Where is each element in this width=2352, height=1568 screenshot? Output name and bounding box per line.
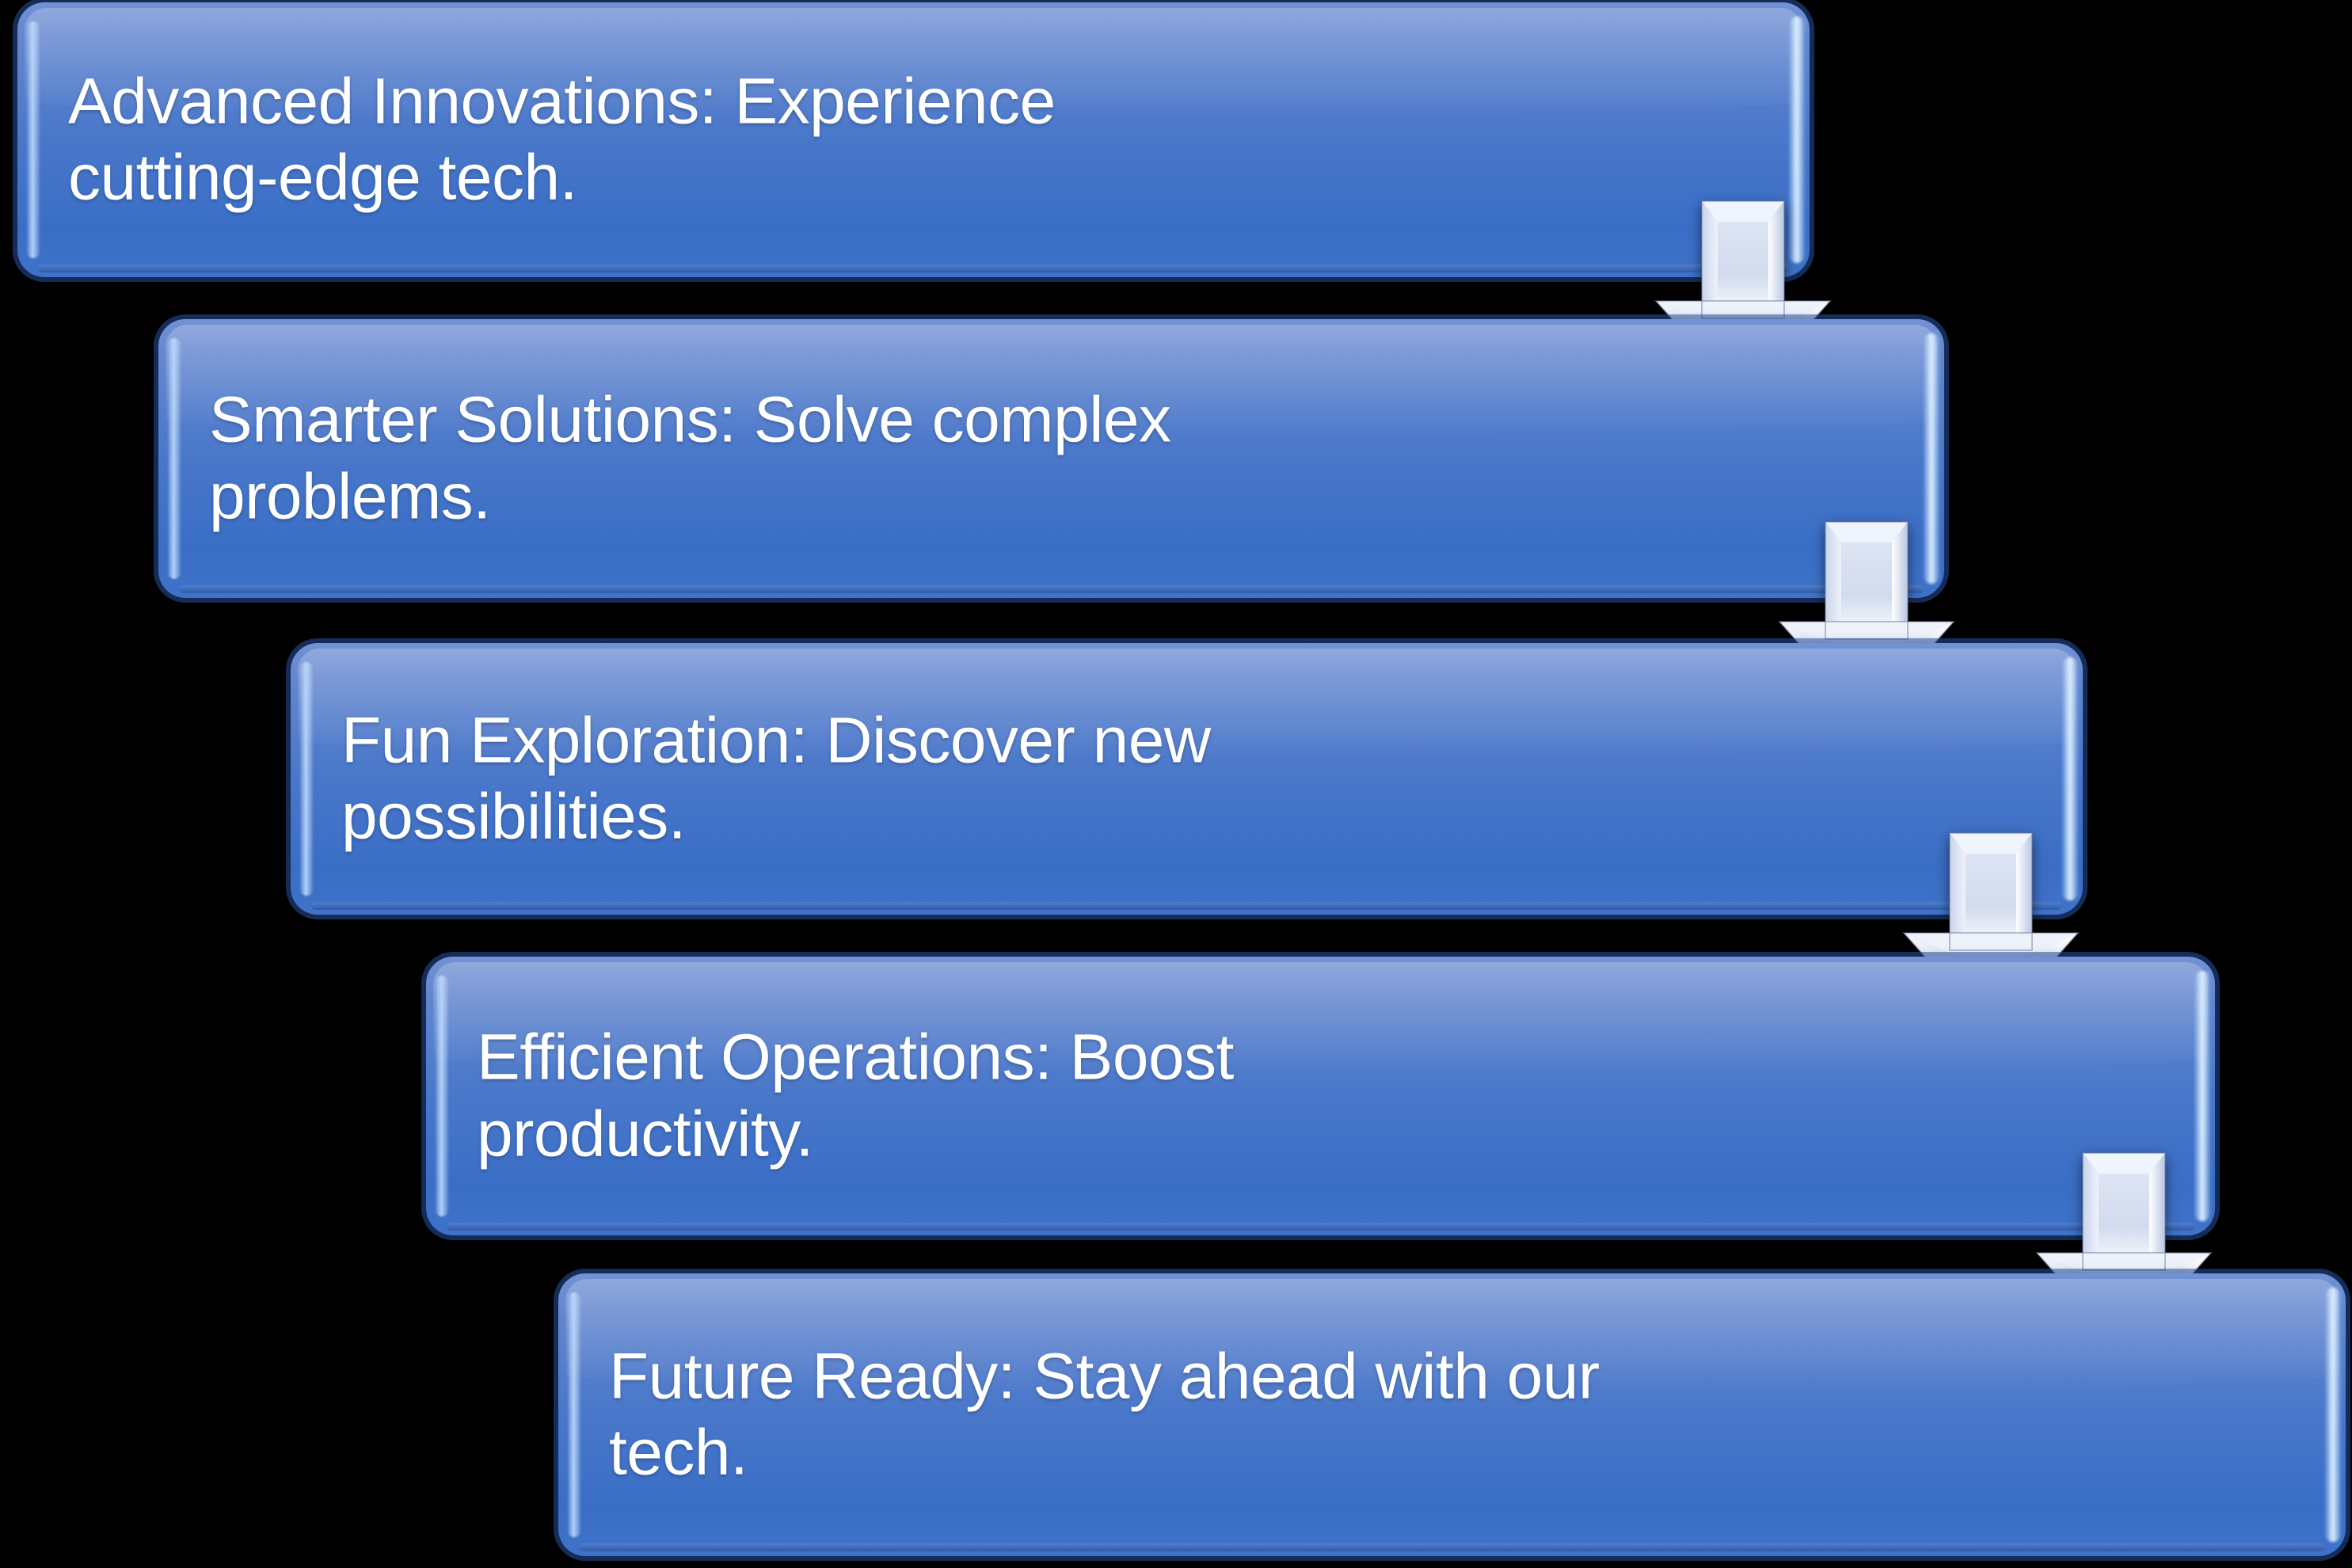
- box-left-bevel: [568, 1292, 580, 1537]
- process-step-box-3[interactable]: Fun Exploration: Discover new possibilit…: [291, 643, 2083, 915]
- process-diagram-canvas: Advanced Innovations: Experience cutting…: [0, 0, 2352, 1568]
- process-step-label-4: Efficient Operations: Boost productivity…: [477, 1019, 2183, 1173]
- box-bottom-bevel: [179, 585, 1924, 593]
- box-right-bevel: [2325, 1288, 2341, 1542]
- box-left-bevel: [168, 338, 181, 579]
- process-step-label-5: Future Ready: Stay ahead with our tech.: [609, 1338, 2314, 1492]
- process-step-box-4[interactable]: Efficient Operations: Boost productivity…: [426, 957, 2215, 1235]
- process-step-box-2[interactable]: Smarter Solutions: Solve complex problem…: [158, 319, 1944, 598]
- box-left-bevel: [436, 976, 448, 1216]
- box-bottom-bevel: [311, 902, 2062, 910]
- box-left-bevel: [300, 662, 313, 896]
- process-step-box-5[interactable]: Future Ready: Stay ahead with our tech.: [558, 1273, 2346, 1556]
- process-step-label-1: Advanced Innovations: Experience cutting…: [68, 63, 1778, 217]
- process-step-box-1[interactable]: Advanced Innovations: Experience cutting…: [17, 2, 1810, 277]
- box-left-bevel: [27, 21, 40, 258]
- box-bottom-bevel: [579, 1543, 2325, 1551]
- process-step-label-2: Smarter Solutions: Solve complex problem…: [209, 382, 1912, 535]
- process-step-label-3: Fun Exploration: Discover new possibilit…: [341, 702, 2051, 856]
- box-bottom-bevel: [38, 265, 1789, 272]
- box-bottom-bevel: [447, 1223, 2194, 1231]
